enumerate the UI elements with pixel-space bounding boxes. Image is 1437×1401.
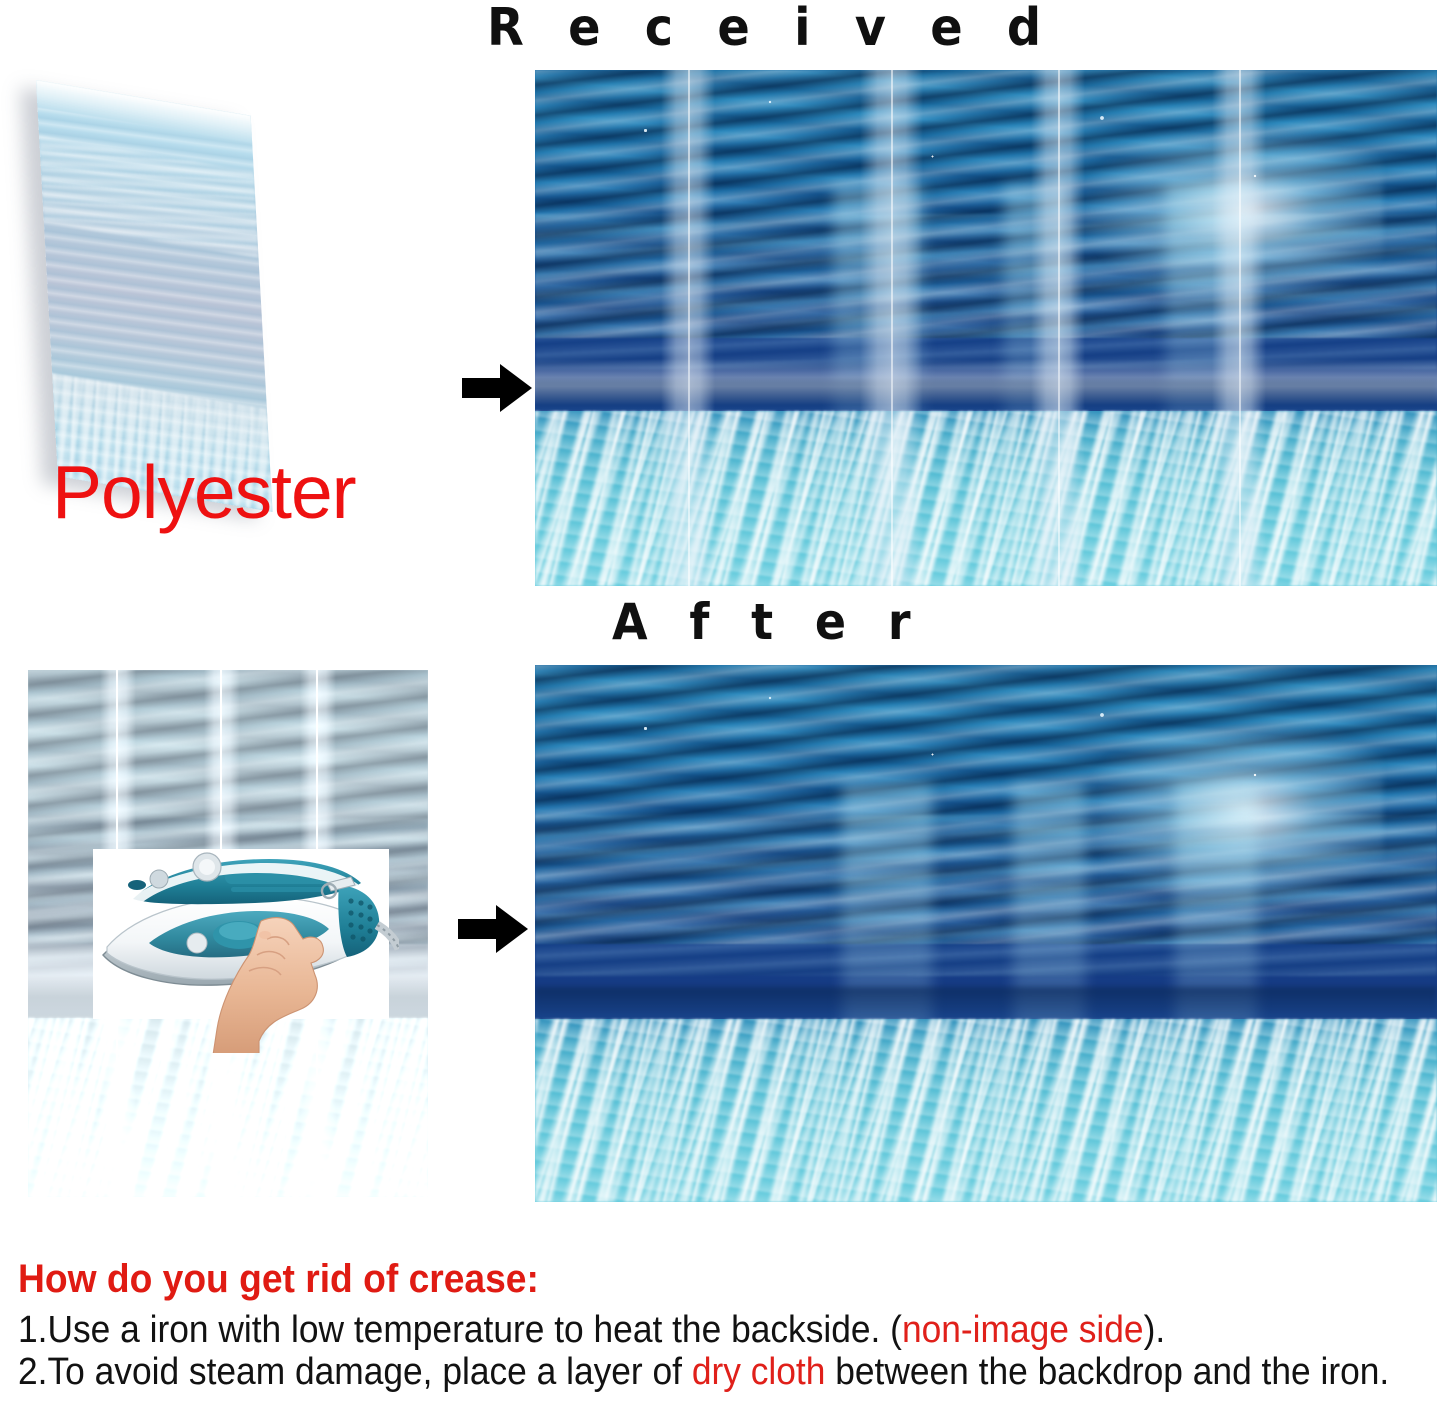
air-bubbles [535,676,1437,848]
product-instruction-image: R e c e i v e d A f t e r Polyester [0,0,1437,1401]
steam-iron-photo [93,849,389,1019]
step-1-text-b: ). [1144,1309,1166,1351]
underwater-scene [535,70,1437,586]
polyester-label: Polyester [52,455,356,530]
seabed-horizon [535,380,1437,411]
fabric-sheet [36,80,273,512]
fabric-ripple-highlight [39,135,258,258]
polyester-fabric-swatch [18,80,418,490]
arrow-right-icon [458,903,528,955]
received-backdrop-photo [535,70,1437,586]
light-caustics [535,411,1437,586]
step-2-text-a: 2.To avoid steam damage, place a layer o… [18,1351,692,1393]
fabric-top-curl [36,80,252,143]
steam-iron-illustration [89,843,399,1053]
after-backdrop-photo [535,665,1437,1202]
step-1-text-a: 1.Use a iron with low temperature to hea… [18,1309,902,1351]
step-2-text-b: between the backdrop and the iron. [825,1351,1389,1393]
underwater-scene [535,665,1437,1202]
instructions-title: How do you get rid of crease: [18,1258,539,1300]
arrow-right-icon [462,362,532,414]
instruction-step-2: 2.To avoid steam damage, place a layer o… [18,1352,1389,1393]
instruction-step-1: 1.Use a iron with low temperature to hea… [18,1310,1165,1351]
seabed-horizon [535,987,1437,1019]
air-bubbles [535,80,1437,245]
heading-received: R e c e i v e d [487,2,1055,54]
heading-after: A f t e r [612,597,923,647]
step-2-highlight: dry cloth [692,1351,826,1393]
step-1-highlight: non-image side [902,1309,1144,1351]
light-caustics [535,1019,1437,1202]
